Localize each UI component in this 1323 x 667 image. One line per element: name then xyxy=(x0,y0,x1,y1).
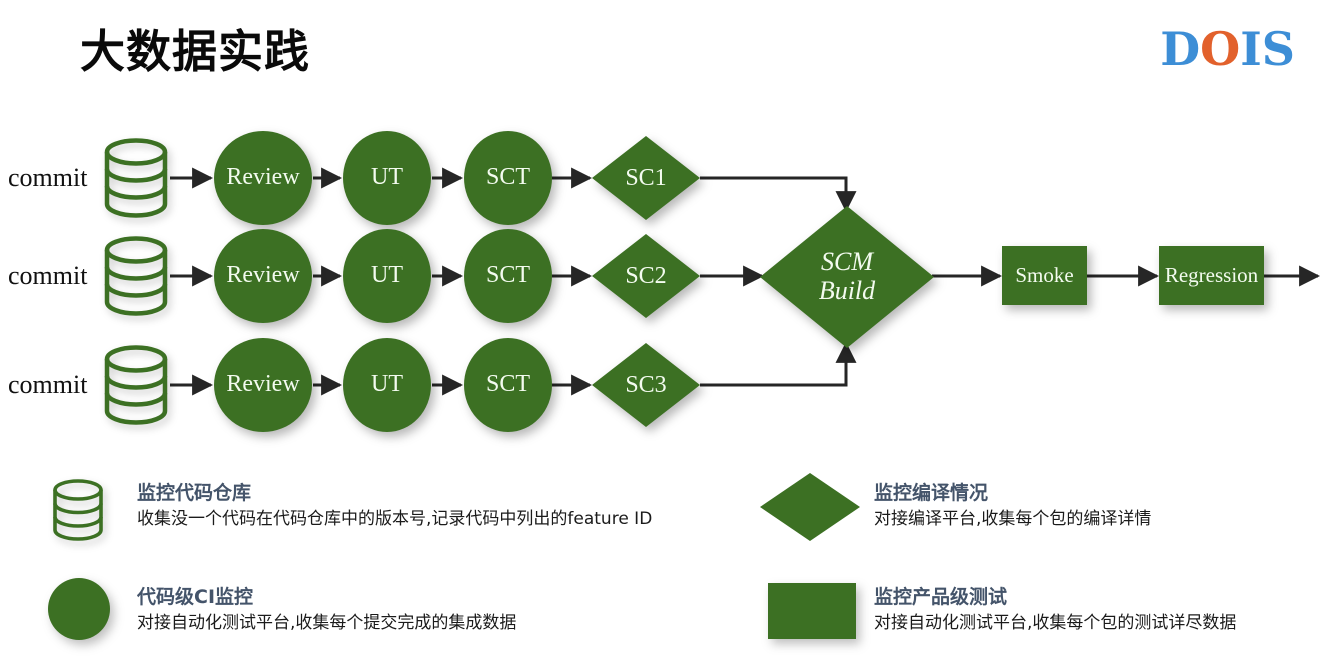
stage-label: SCT xyxy=(486,263,530,288)
database-cylinder-icon xyxy=(103,345,169,425)
stage-sct-row3[interactable]: SCT xyxy=(464,338,552,432)
stage-review-row3[interactable]: Review xyxy=(214,338,312,432)
database-cylinder-icon xyxy=(103,138,169,218)
scm-build-line2: Build xyxy=(819,276,875,305)
scm-build-label: SCM Build xyxy=(760,206,934,348)
stage-label: Smoke xyxy=(1015,264,1073,286)
gate-label: SC3 xyxy=(592,343,700,427)
stage-ut-row1[interactable]: UT xyxy=(343,131,431,225)
stage-ut-row2[interactable]: UT xyxy=(343,229,431,323)
stage-label: UT xyxy=(371,165,403,190)
stage-review-row2[interactable]: Review xyxy=(214,229,312,323)
commit-label-row2: commit xyxy=(8,261,87,291)
stage-label: Regression xyxy=(1165,264,1258,286)
gate-sc1[interactable]: SC1 xyxy=(592,136,700,220)
database-cylinder-icon xyxy=(103,236,169,316)
gate-sc2[interactable]: SC2 xyxy=(592,234,700,318)
stage-sct-row1[interactable]: SCT xyxy=(464,131,552,225)
stage-sct-row2[interactable]: SCT xyxy=(464,229,552,323)
stage-label: Review xyxy=(226,165,299,190)
stage-regression[interactable]: Regression xyxy=(1159,246,1264,305)
slide-canvas: 大数据实践 DOIS xyxy=(0,0,1323,667)
stage-label: Review xyxy=(226,263,299,288)
gate-label: SC2 xyxy=(592,234,700,318)
scm-build-line1: SCM xyxy=(821,247,873,276)
stage-label: Review xyxy=(226,372,299,397)
commit-label-row1: commit xyxy=(8,163,87,193)
stage-label: UT xyxy=(371,263,403,288)
stage-label: SCT xyxy=(486,165,530,190)
stage-review-row1[interactable]: Review xyxy=(214,131,312,225)
stage-label: UT xyxy=(371,372,403,397)
stage-smoke[interactable]: Smoke xyxy=(1002,246,1087,305)
gate-label: SC1 xyxy=(592,136,700,220)
commit-label-row3: commit xyxy=(8,370,87,400)
gate-sc3[interactable]: SC3 xyxy=(592,343,700,427)
flow-connectors xyxy=(0,0,1323,667)
scm-build-node[interactable]: SCM Build xyxy=(760,206,934,348)
stage-ut-row3[interactable]: UT xyxy=(343,338,431,432)
stage-label: SCT xyxy=(486,372,530,397)
